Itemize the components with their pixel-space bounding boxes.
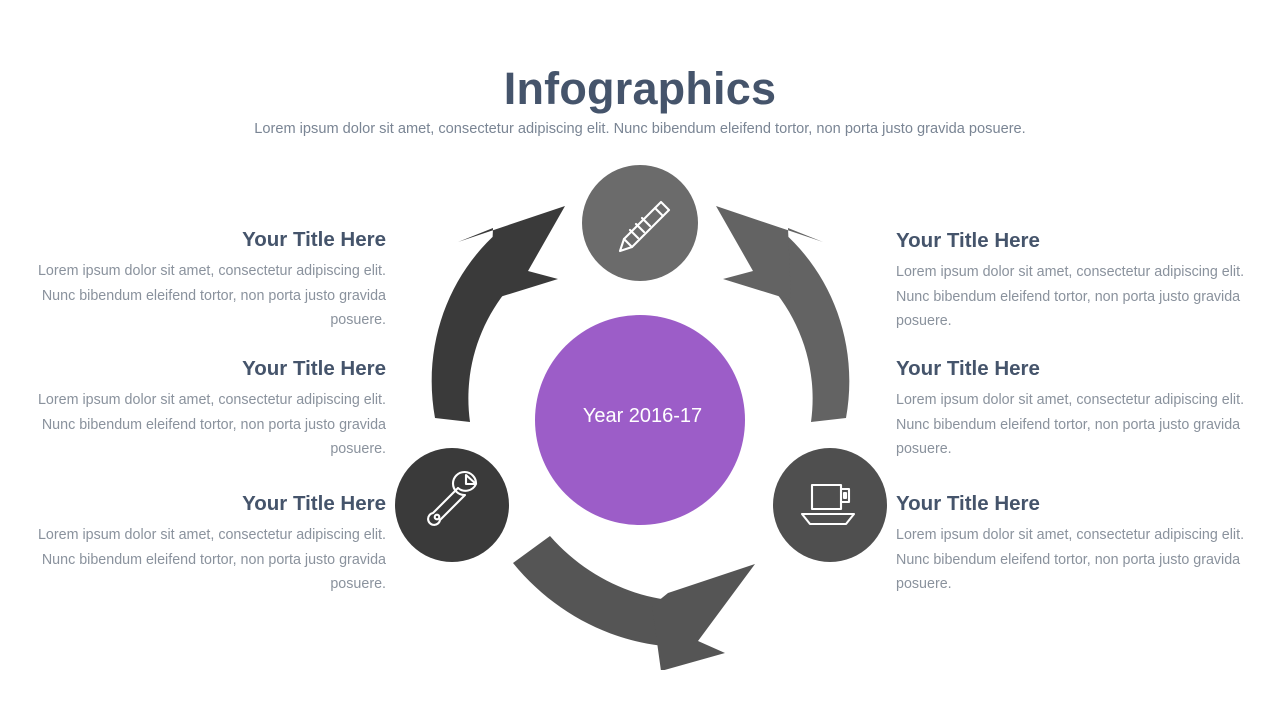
text-block-right-2: Your Title Here Lorem ipsum dolor sit am… bbox=[896, 355, 1262, 462]
icon-circle-coffee-cup[interactable] bbox=[773, 448, 887, 562]
page-title: Infographics bbox=[0, 64, 1280, 114]
block-title: Your Title Here bbox=[20, 490, 386, 518]
arrow-bottom-right bbox=[513, 536, 755, 670]
icon-circle-pencil[interactable] bbox=[582, 165, 698, 281]
block-title: Your Title Here bbox=[896, 355, 1262, 383]
text-block-right-1: Your Title Here Lorem ipsum dolor sit am… bbox=[896, 227, 1262, 334]
block-body: Lorem ipsum dolor sit amet, consectetur … bbox=[896, 523, 1262, 598]
center-circle[interactable] bbox=[535, 315, 745, 525]
block-body: Lorem ipsum dolor sit amet, consectetur … bbox=[896, 388, 1262, 463]
infographic-slide: Infographics Lorem ipsum dolor sit amet,… bbox=[0, 0, 1280, 720]
block-title: Your Title Here bbox=[896, 227, 1262, 255]
text-block-left-1: Your Title Here Lorem ipsum dolor sit am… bbox=[20, 226, 386, 333]
icon-circle-wrench[interactable] bbox=[395, 448, 509, 562]
block-body: Lorem ipsum dolor sit amet, consectetur … bbox=[20, 388, 386, 463]
text-block-left-3: Your Title Here Lorem ipsum dolor sit am… bbox=[20, 490, 386, 597]
text-block-right-3: Your Title Here Lorem ipsum dolor sit am… bbox=[896, 490, 1262, 597]
block-body: Lorem ipsum dolor sit amet, consectetur … bbox=[896, 260, 1262, 335]
page-subtitle: Lorem ipsum dolor sit amet, consectetur … bbox=[0, 120, 1280, 139]
block-title: Your Title Here bbox=[896, 490, 1262, 518]
text-block-left-2: Your Title Here Lorem ipsum dolor sit am… bbox=[20, 355, 386, 462]
block-body: Lorem ipsum dolor sit amet, consectetur … bbox=[20, 259, 386, 334]
block-body: Lorem ipsum dolor sit amet, consectetur … bbox=[20, 523, 386, 598]
cycle-diagram bbox=[380, 150, 900, 670]
block-title: Your Title Here bbox=[20, 355, 386, 383]
block-title: Your Title Here bbox=[20, 226, 386, 254]
